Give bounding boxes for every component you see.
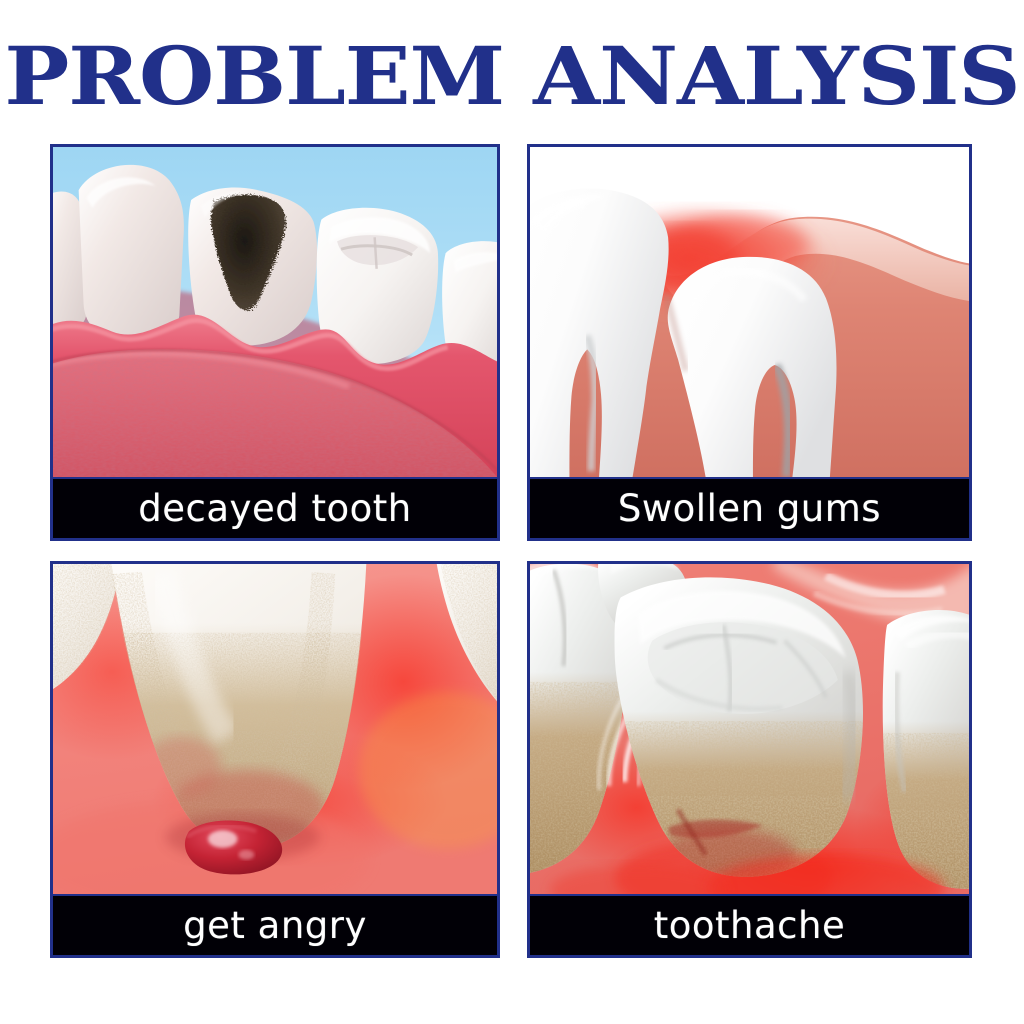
panel-swollen-gums[interactable]: Swollen gums — [527, 144, 972, 541]
caption-decayed-tooth: decayed tooth — [53, 477, 497, 538]
page-title: PROBLEM ANALYSIS — [0, 38, 1024, 114]
illustration-get-angry — [53, 564, 497, 894]
panel-decayed-tooth[interactable]: decayed tooth — [50, 144, 500, 541]
caption-get-angry: get angry — [53, 894, 497, 955]
caption-swollen-gums: Swollen gums — [530, 477, 969, 538]
panel-grid: decayed tooth — [50, 144, 972, 958]
illustration-swollen-gums — [530, 147, 969, 477]
illustration-decayed-tooth — [53, 147, 497, 477]
illustration-toothache — [530, 564, 969, 894]
panel-toothache[interactable]: toothache — [527, 561, 972, 958]
caption-toothache: toothache — [530, 894, 969, 955]
poster-root: PROBLEM ANALYSIS — [0, 0, 1024, 1024]
panel-get-angry[interactable]: get angry — [50, 561, 500, 958]
